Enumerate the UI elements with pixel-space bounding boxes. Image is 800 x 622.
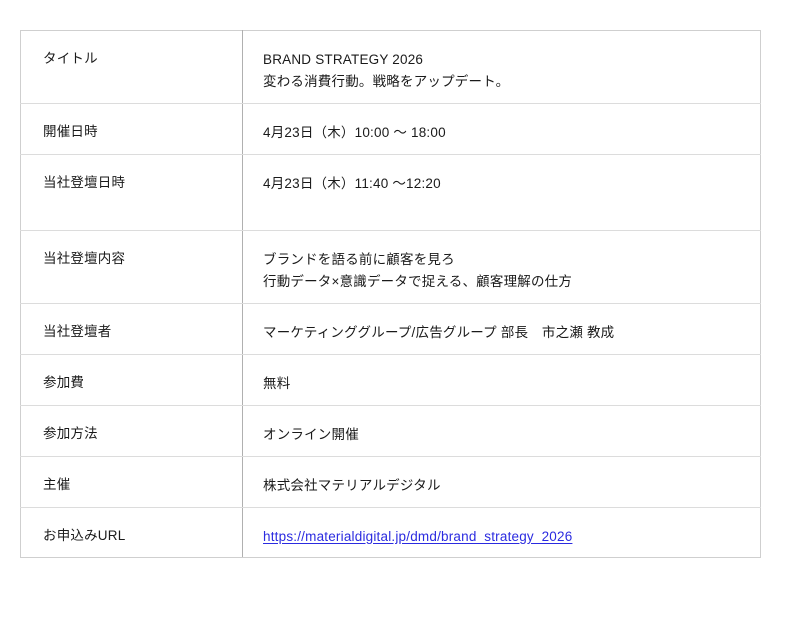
table-row: タイトルBRAND STRATEGY 2026変わる消費行動。戦略をアップデート… (21, 31, 761, 104)
row-value-cell: 4月23日（木）10:00 〜 18:00 (243, 103, 761, 154)
row-label: 当社登壇日時 (21, 155, 242, 230)
row-value-line: オンライン開催 (263, 424, 748, 446)
row-value: マーケティンググループ/広告グループ 部長 市之瀬 教成 (243, 304, 760, 354)
table-row: 当社登壇者マーケティンググループ/広告グループ 部長 市之瀬 教成 (21, 304, 761, 355)
table-row: 主催株式会社マテリアルデジタル (21, 456, 761, 507)
row-value-line: BRAND STRATEGY 2026 (263, 49, 748, 71)
table-row: 参加方法オンライン開催 (21, 405, 761, 456)
row-value-line: 株式会社マテリアルデジタル (263, 475, 748, 497)
row-label: 開催日時 (21, 104, 242, 153)
row-value-line: 無料 (263, 373, 748, 395)
row-value-line: 行動データ×意識データで捉える、顧客理解の仕方 (263, 271, 748, 293)
row-label-cell: 主催 (21, 456, 243, 507)
row-label-cell: 参加方法 (21, 405, 243, 456)
row-value: ブランドを語る前に顧客を見ろ行動データ×意識データで捉える、顧客理解の仕方 (243, 231, 760, 303)
row-label-cell: 当社登壇内容 (21, 231, 243, 304)
row-value: オンライン開催 (243, 406, 760, 456)
table-row: 当社登壇日時4月23日（木）11:40 〜12:20 (21, 154, 761, 231)
registration-url-link[interactable]: https://materialdigital.jp/dmd/brand_str… (263, 526, 748, 548)
row-value-cell: https://materialdigital.jp/dmd/brand_str… (243, 507, 761, 558)
row-value: 4月23日（木）11:40 〜12:20 (243, 155, 760, 231)
row-value: 無料 (243, 355, 760, 405)
row-value-line: マーケティンググループ/広告グループ 部長 市之瀬 教成 (263, 322, 748, 344)
event-info-page: タイトルBRAND STRATEGY 2026変わる消費行動。戦略をアップデート… (0, 0, 800, 622)
row-value-cell: 4月23日（木）11:40 〜12:20 (243, 154, 761, 231)
row-value-cell: マーケティンググループ/広告グループ 部長 市之瀬 教成 (243, 304, 761, 355)
row-value-cell: ブランドを語る前に顧客を見ろ行動データ×意識データで捉える、顧客理解の仕方 (243, 231, 761, 304)
row-value-line: 変わる消費行動。戦略をアップデート。 (263, 71, 748, 93)
row-value: 4月23日（木）10:00 〜 18:00 (243, 104, 760, 154)
row-label: 当社登壇内容 (21, 231, 242, 280)
row-label: 参加方法 (21, 406, 242, 455)
row-label-cell: 開催日時 (21, 103, 243, 154)
row-value-cell: 株式会社マテリアルデジタル (243, 456, 761, 507)
row-label-cell: タイトル (21, 31, 243, 104)
table-body: タイトルBRAND STRATEGY 2026変わる消費行動。戦略をアップデート… (21, 31, 761, 558)
row-value-cell: オンライン開催 (243, 405, 761, 456)
row-label-cell: お申込みURL (21, 507, 243, 558)
row-label: お申込みURL (21, 508, 242, 557)
row-value-line: ブランドを語る前に顧客を見ろ (263, 249, 748, 271)
row-value-line: 4月23日（木）10:00 〜 18:00 (263, 122, 748, 144)
table-row: 参加費無料 (21, 355, 761, 406)
row-value: https://materialdigital.jp/dmd/brand_str… (243, 508, 760, 558)
row-value-cell: BRAND STRATEGY 2026変わる消費行動。戦略をアップデート。 (243, 31, 761, 104)
row-label-cell: 当社登壇日時 (21, 154, 243, 231)
row-value-cell: 無料 (243, 355, 761, 406)
row-label: 主催 (21, 457, 242, 506)
row-label-cell: 当社登壇者 (21, 304, 243, 355)
row-value: 株式会社マテリアルデジタル (243, 457, 760, 507)
row-label: タイトル (21, 31, 242, 80)
row-label: 参加費 (21, 355, 242, 404)
table-row: お申込みURLhttps://materialdigital.jp/dmd/br… (21, 507, 761, 558)
table-row: 開催日時4月23日（木）10:00 〜 18:00 (21, 103, 761, 154)
table-row: 当社登壇内容ブランドを語る前に顧客を見ろ行動データ×意識データで捉える、顧客理解… (21, 231, 761, 304)
row-label: 当社登壇者 (21, 304, 242, 353)
event-details-table: タイトルBRAND STRATEGY 2026変わる消費行動。戦略をアップデート… (20, 30, 761, 558)
row-label-cell: 参加費 (21, 355, 243, 406)
row-value: BRAND STRATEGY 2026変わる消費行動。戦略をアップデート。 (243, 31, 760, 103)
row-value-line: 4月23日（木）11:40 〜12:20 (263, 173, 748, 195)
